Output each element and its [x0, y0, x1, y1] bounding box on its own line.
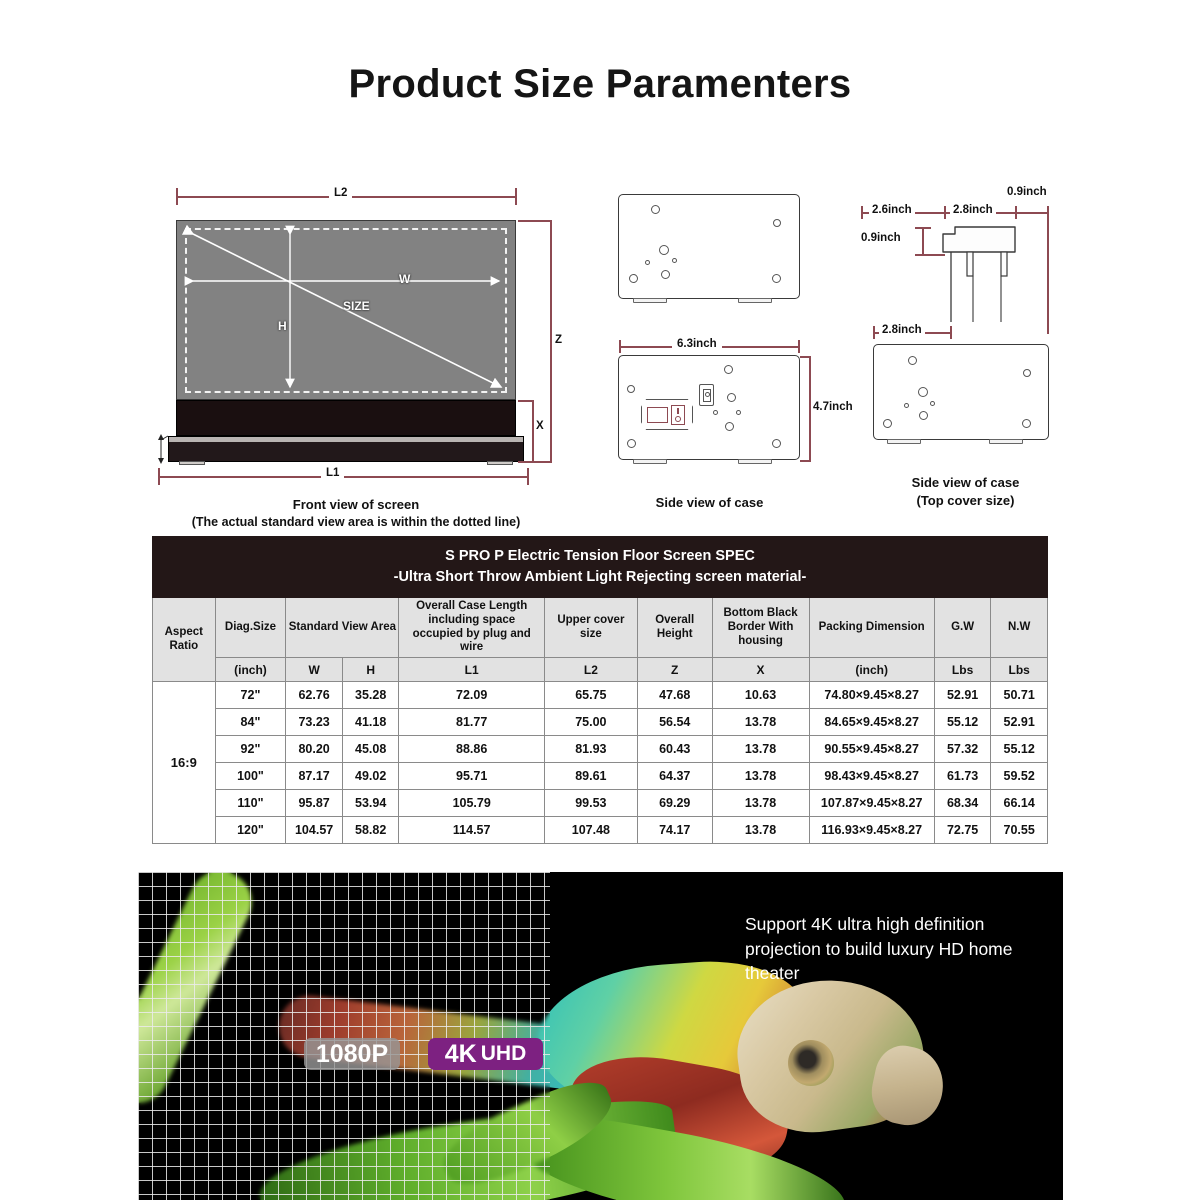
cell-l1: 81.77 — [399, 709, 544, 736]
cell-h: 45.08 — [342, 736, 399, 763]
z-tick-top — [518, 220, 552, 222]
screw-hole — [883, 419, 892, 428]
side-view-top-cover-caption: Side view of case (Top cover size) — [853, 474, 1078, 509]
screw-hole — [645, 260, 650, 265]
cell-l2: 65.75 — [544, 682, 637, 709]
cell-l1: 114.57 — [399, 817, 544, 844]
spec-title-line1: S PRO P Electric Tension Floor Screen SP… — [157, 546, 1043, 567]
cell-l2: 81.93 — [544, 736, 637, 763]
table-row: 120" 104.57 58.82 114.57 107.48 74.17 13… — [153, 817, 1048, 844]
header-overall-height: Overall Height — [637, 598, 712, 658]
dim-28-base-tick-right — [950, 326, 952, 339]
cell-gw: 55.12 — [934, 709, 991, 736]
top-cover-caption-line1: Side view of case — [853, 474, 1078, 492]
screw-hole — [736, 410, 741, 415]
case-bottom-leg-left — [633, 459, 667, 464]
screw-hole — [1022, 419, 1031, 428]
page-title: Product Size Paramenters — [0, 62, 1200, 107]
power-socket[interactable] — [647, 407, 668, 423]
screw-hole — [772, 274, 781, 283]
table-row: 84" 73.23 41.18 81.77 75.00 56.54 13.78 … — [153, 709, 1048, 736]
header-packing-dimension: Packing Dimension — [809, 598, 934, 658]
cell-w: 104.57 — [286, 817, 343, 844]
screw-hole — [672, 258, 677, 263]
cell-x: 13.78 — [712, 763, 809, 790]
case-width-tick-right — [798, 340, 800, 353]
screw-hole — [724, 365, 733, 374]
badge-4k-uhd: 4K UHD — [428, 1038, 543, 1070]
cell-z: 69.29 — [637, 790, 712, 817]
cell-diag: 84" — [215, 709, 286, 736]
cell-nw: 55.12 — [991, 736, 1048, 763]
case-width-label: 6.3inch — [672, 338, 722, 350]
subheader-diag-unit: (inch) — [215, 658, 286, 682]
cell-x: 13.78 — [712, 736, 809, 763]
front-view-caption-line1: Front view of screen — [141, 496, 571, 514]
screen-surface: W H SIZE — [176, 220, 516, 400]
power-rocker-switch[interactable] — [671, 405, 685, 425]
cell-nw: 50.71 — [991, 682, 1048, 709]
subheader-packing-unit: (inch) — [809, 658, 934, 682]
case-bottom-leg-right — [738, 459, 772, 464]
cell-diag: 120" — [215, 817, 286, 844]
cell-x: 13.78 — [712, 817, 809, 844]
dim-09-right-line — [1015, 212, 1048, 214]
cell-w: 73.23 — [286, 709, 343, 736]
cell-z: 74.17 — [637, 817, 712, 844]
z-label: Z — [555, 334, 562, 346]
cell-packing: 107.87×9.45×8.27 — [809, 790, 934, 817]
cell-nw: 52.91 — [991, 709, 1048, 736]
subheader-l1: L1 — [399, 658, 544, 682]
header-upper-cover-size: Upper cover size — [544, 598, 637, 658]
base-foot-left — [179, 461, 205, 465]
cell-l1: 105.79 — [399, 790, 544, 817]
small-left-dimension-marker — [148, 432, 174, 466]
header-diag-size: Diag.Size — [215, 598, 286, 658]
dim-09-drop-line — [922, 227, 924, 255]
case-leg-right — [738, 298, 772, 303]
cell-packing: 74.80×9.45×8.27 — [809, 682, 934, 709]
case-base-top-edge — [169, 437, 523, 442]
cell-x: 10.63 — [712, 682, 809, 709]
cell-nw: 70.55 — [991, 817, 1048, 844]
front-view-diagram: L2 W H SIZE — [146, 174, 566, 474]
cell-gw: 57.32 — [934, 736, 991, 763]
screen-height-label: H — [278, 319, 287, 333]
cell-l1: 72.09 — [399, 682, 544, 709]
x-dimension-line — [532, 400, 534, 462]
badge-uhd-sub: UHD — [481, 1042, 527, 1066]
case-leg-left — [633, 298, 667, 303]
cell-gw: 68.34 — [934, 790, 991, 817]
cell-l2: 107.48 — [544, 817, 637, 844]
l1-label: L1 — [321, 467, 344, 479]
z-dimension-line — [550, 220, 552, 462]
screw-hole — [918, 387, 928, 397]
switch-off-mark — [675, 416, 681, 422]
screw-hole — [651, 205, 660, 214]
subheader-x: X — [712, 658, 809, 682]
side-view-case-diagram: 6.3inch — [610, 194, 840, 484]
z-tick-bottom — [518, 461, 552, 463]
cell-nw: 66.14 — [991, 790, 1048, 817]
screw-hole — [930, 401, 935, 406]
subheader-gw-unit: Lbs — [934, 658, 991, 682]
cell-diag: 92" — [215, 736, 286, 763]
table-row: 110" 95.87 53.94 105.79 99.53 69.29 13.7… — [153, 790, 1048, 817]
cell-diag: 110" — [215, 790, 286, 817]
subheader-w: W — [286, 658, 343, 682]
spec-table-body: 16:9 72" 62.76 35.28 72.09 65.75 47.68 1… — [153, 682, 1048, 844]
screw-hole — [627, 385, 635, 393]
top-cover-leg-right — [989, 439, 1023, 444]
l2-label: L2 — [329, 187, 352, 199]
spec-header-row: Aspect Ratio Diag.Size Standard View Are… — [153, 598, 1048, 658]
dim-26-label: 2.6inch — [869, 204, 915, 216]
screw-hole — [772, 439, 781, 448]
dim-09-drop-tick-bottom — [915, 254, 945, 256]
cell-w: 62.76 — [286, 682, 343, 709]
spec-title-row: S PRO P Electric Tension Floor Screen SP… — [153, 537, 1048, 598]
cell-l1: 95.71 — [399, 763, 544, 790]
table-row: 100" 87.17 49.02 95.71 89.61 64.37 13.78… — [153, 763, 1048, 790]
cell-h: 49.02 — [342, 763, 399, 790]
case-height-tick-bottom — [800, 460, 811, 462]
screw-hole — [725, 422, 734, 431]
switch-on-mark — [677, 408, 679, 414]
header-overall-case-length: Overall Case Length including space occu… — [399, 598, 544, 658]
screw-hole — [629, 274, 638, 283]
cell-packing: 116.93×9.45×8.27 — [809, 817, 934, 844]
subheader-nw-unit: Lbs — [991, 658, 1048, 682]
header-nw: N.W — [991, 598, 1048, 658]
base-foot-right — [487, 461, 513, 465]
subheader-l2: L2 — [544, 658, 637, 682]
spec-title-line2: -Ultra Short Throw Ambient Light Rejecti… — [157, 567, 1043, 588]
pixel-grid-overlay — [138, 872, 550, 1200]
subheader-z: Z — [637, 658, 712, 682]
cell-z: 60.43 — [637, 736, 712, 763]
power-inlet-plate — [641, 399, 693, 430]
l1-tick-left — [158, 468, 160, 485]
cell-diag: 72" — [215, 682, 286, 709]
screw-hole — [727, 393, 736, 402]
toggle-button[interactable] — [699, 384, 714, 406]
dim-28-base-tick-left — [873, 326, 875, 339]
case-height-dimension-line — [809, 356, 811, 461]
spec-table: S PRO P Electric Tension Floor Screen SP… — [152, 536, 1048, 844]
x-label: X — [536, 420, 544, 432]
side-view-top-cover-diagram: 2.6inch 2.8inch 0.9inch 0.9inch 2.8inch — [855, 174, 1095, 484]
cell-gw: 52.91 — [934, 682, 991, 709]
screw-hole — [627, 439, 636, 448]
header-gw: G.W — [934, 598, 991, 658]
diagram-section: L2 W H SIZE — [0, 160, 1200, 525]
screw-hole — [919, 411, 928, 420]
cell-l2: 99.53 — [544, 790, 637, 817]
cell-l1: 88.86 — [399, 736, 544, 763]
cell-z: 47.68 — [637, 682, 712, 709]
spec-subheader-row: (inch) W H L1 L2 Z X (inch) Lbs Lbs — [153, 658, 1048, 682]
screw-hole — [659, 245, 669, 255]
screw-hole — [661, 270, 670, 279]
case-height-tick-top — [800, 356, 811, 358]
cell-h: 58.82 — [342, 817, 399, 844]
screen-size-label: SIZE — [343, 299, 370, 313]
cell-z: 56.54 — [637, 709, 712, 736]
case-bottom-outline — [618, 355, 800, 460]
badge-1080p: 1080P — [304, 1038, 400, 1070]
cell-l2: 75.00 — [544, 709, 637, 736]
chameleon-eye — [788, 1040, 834, 1086]
cell-w: 95.87 — [286, 790, 343, 817]
case-width-tick-left — [619, 340, 621, 353]
l1-tick-right — [527, 468, 529, 485]
cell-x: 13.78 — [712, 790, 809, 817]
bottom-black-border — [176, 400, 516, 436]
cell-gw: 61.73 — [934, 763, 991, 790]
cell-h: 53.94 — [342, 790, 399, 817]
case-base — [168, 436, 524, 462]
l2-tick-left — [176, 188, 178, 205]
table-row: 92" 80.20 45.08 88.86 81.93 60.43 13.78 … — [153, 736, 1048, 763]
cell-h: 41.18 — [342, 709, 399, 736]
top-cover-caption-line2: (Top cover size) — [853, 492, 1078, 510]
cell-x: 13.78 — [712, 709, 809, 736]
header-standard-view-area: Standard View Area — [286, 598, 399, 658]
header-aspect-ratio: Aspect Ratio — [153, 598, 216, 682]
cell-packing: 84.65×9.45×8.27 — [809, 709, 934, 736]
cell-diag: 100" — [215, 763, 286, 790]
screw-hole — [904, 403, 909, 408]
screw-hole — [1023, 369, 1031, 377]
side-view-case-caption: Side view of case — [602, 494, 817, 512]
cell-w: 80.20 — [286, 736, 343, 763]
front-view-caption-line2: (The actual standard view area is within… — [141, 514, 571, 531]
spec-title-cell: S PRO P Electric Tension Floor Screen SP… — [153, 537, 1048, 598]
dim-09-drop-label: 0.9inch — [861, 232, 901, 244]
toggle-led — [705, 392, 710, 397]
dim-28-base-label: 2.8inch — [879, 324, 925, 336]
table-row: 16:9 72" 62.76 35.28 72.09 65.75 47.68 1… — [153, 682, 1048, 709]
cell-gw: 72.75 — [934, 817, 991, 844]
cell-h: 35.28 — [342, 682, 399, 709]
cell-l2: 89.61 — [544, 763, 637, 790]
l2-tick-right — [515, 188, 517, 205]
case-height-label: 4.7inch — [813, 401, 853, 413]
case-top-outline — [618, 194, 800, 299]
screw-hole — [713, 410, 718, 415]
dim-28-label: 2.8inch — [950, 204, 996, 216]
screen-width-label: W — [399, 272, 410, 286]
top-cover-leg-left — [887, 439, 921, 444]
dim-09-drop-tick-top — [915, 227, 931, 229]
cell-z: 64.37 — [637, 763, 712, 790]
badge-4k-main: 4K — [445, 1040, 477, 1069]
dim-26-tick-left — [861, 206, 863, 219]
header-bottom-black-border: Bottom Black Border With housing — [712, 598, 809, 658]
front-view-caption: Front view of screen (The actual standar… — [141, 496, 571, 530]
cell-nw: 59.52 — [991, 763, 1048, 790]
hero-headline: Support 4K ultra high definition project… — [745, 912, 1055, 986]
x-tick-top — [518, 400, 534, 402]
cell-packing: 90.55×9.45×8.27 — [809, 736, 934, 763]
cell-packing: 98.43×9.45×8.27 — [809, 763, 934, 790]
screw-hole — [773, 219, 781, 227]
screw-hole — [908, 356, 917, 365]
subheader-h: H — [342, 658, 399, 682]
aspect-ratio-value: 16:9 — [153, 682, 216, 844]
cell-w: 87.17 — [286, 763, 343, 790]
top-cover-base-outline — [873, 344, 1049, 440]
dim-09-right-label: 0.9inch — [1007, 186, 1047, 198]
